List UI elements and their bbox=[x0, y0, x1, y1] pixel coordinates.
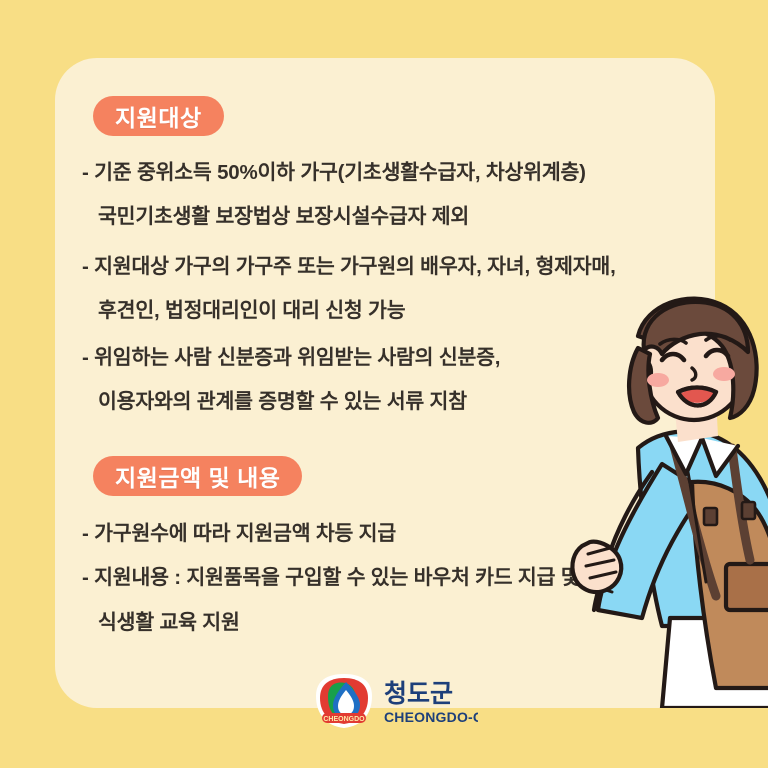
body-line: 후견인, 법정대리인이 대리 신청 가능 bbox=[98, 293, 405, 323]
body-line: - 기준 중위소득 50%이하 가구(기초생활수급자, 차상위계층) bbox=[82, 155, 586, 185]
section-badge-support-amount: 지원금액 및 내용 bbox=[93, 456, 302, 496]
body-line: 이용자와의 관계를 증명할 수 있는 서류 지참 bbox=[98, 384, 467, 414]
illustration-woman-cheering bbox=[566, 296, 768, 708]
cheongdo-gun-logo: CHEONGDO 청도군 CHEONGDO-GUN bbox=[308, 672, 478, 734]
body-line: - 가구원수에 따라 지원금액 차등 지급 bbox=[82, 516, 396, 546]
body-line: - 위임하는 사람 신분증과 위임받는 사람의 신분증, bbox=[82, 340, 500, 370]
logo-emblem-text: CHEONGDO bbox=[323, 716, 365, 723]
logo-name-kr: 청도군 bbox=[384, 680, 453, 708]
section-badge-support-target: 지원대상 bbox=[93, 96, 224, 136]
logo-name-en: CHEONGDO-GUN bbox=[384, 709, 478, 725]
body-line: 국민기초생활 보장법상 보장시설수급자 제외 bbox=[98, 199, 469, 229]
body-line: - 지원대상 가구의 가구주 또는 가구원의 배우자, 자녀, 형제자매, bbox=[82, 249, 616, 279]
info-card-canvas: 지원대상 - 기준 중위소득 50%이하 가구(기초생활수급자, 차상위계층) … bbox=[0, 0, 768, 768]
body-line: 식생활 교육 지원 bbox=[98, 605, 240, 635]
body-line: - 지원내용 : 지원품목을 구입할 수 있는 바우처 카드 지급 및 bbox=[82, 560, 579, 590]
